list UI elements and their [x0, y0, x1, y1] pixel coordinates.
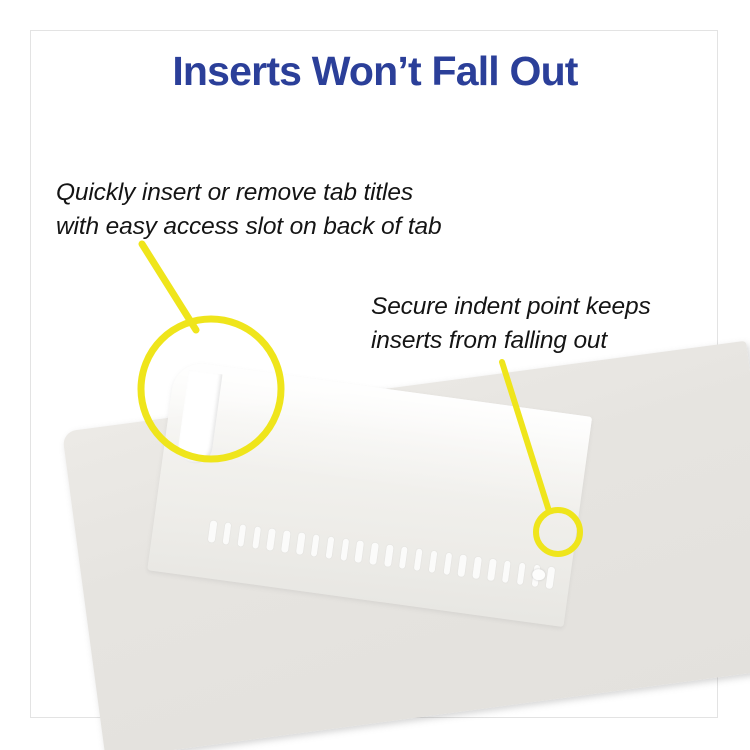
perforation-tick	[487, 558, 496, 581]
perforation-tick	[384, 544, 393, 567]
indent-perforation-row	[207, 516, 556, 593]
perforation-tick	[413, 548, 422, 571]
callout-line-1: Secure indent point keeps	[371, 290, 651, 324]
perforation-tick	[546, 567, 555, 590]
page-title: Inserts Won’t Fall Out	[0, 50, 750, 93]
perforation-tick	[428, 550, 437, 573]
perforation-tick	[443, 552, 452, 575]
perforation-tick	[355, 540, 364, 563]
callout-easy-access-slot: Quickly insert or remove tab titles with…	[56, 176, 441, 244]
product-illustration	[0, 0, 750, 750]
callout-line-2: inserts from falling out	[371, 324, 651, 358]
perforation-tick	[340, 538, 349, 561]
callout-line-2: with easy access slot on back of tab	[56, 210, 441, 244]
perforation-tick	[237, 524, 246, 547]
perforation-tick	[472, 556, 481, 579]
infographic-canvas: Inserts Won’t Fall Out Quickly insert or…	[0, 0, 750, 750]
perforation-tick	[222, 522, 231, 545]
perforation-tick	[252, 526, 261, 549]
perforation-tick	[399, 546, 408, 569]
perforation-tick	[281, 530, 290, 553]
perforation-tick	[208, 520, 217, 543]
perforation-tick	[516, 562, 525, 585]
callout-line-1: Quickly insert or remove tab titles	[56, 176, 441, 210]
perforation-tick	[296, 532, 305, 555]
perforation-tick	[502, 560, 511, 583]
callout-secure-indent-point: Secure indent point keeps inserts from f…	[371, 290, 651, 358]
perforation-tick	[458, 554, 467, 577]
perforation-tick	[266, 528, 275, 551]
perforation-tick	[311, 534, 320, 557]
perforation-tick	[369, 542, 378, 565]
perforation-tick	[325, 536, 334, 559]
